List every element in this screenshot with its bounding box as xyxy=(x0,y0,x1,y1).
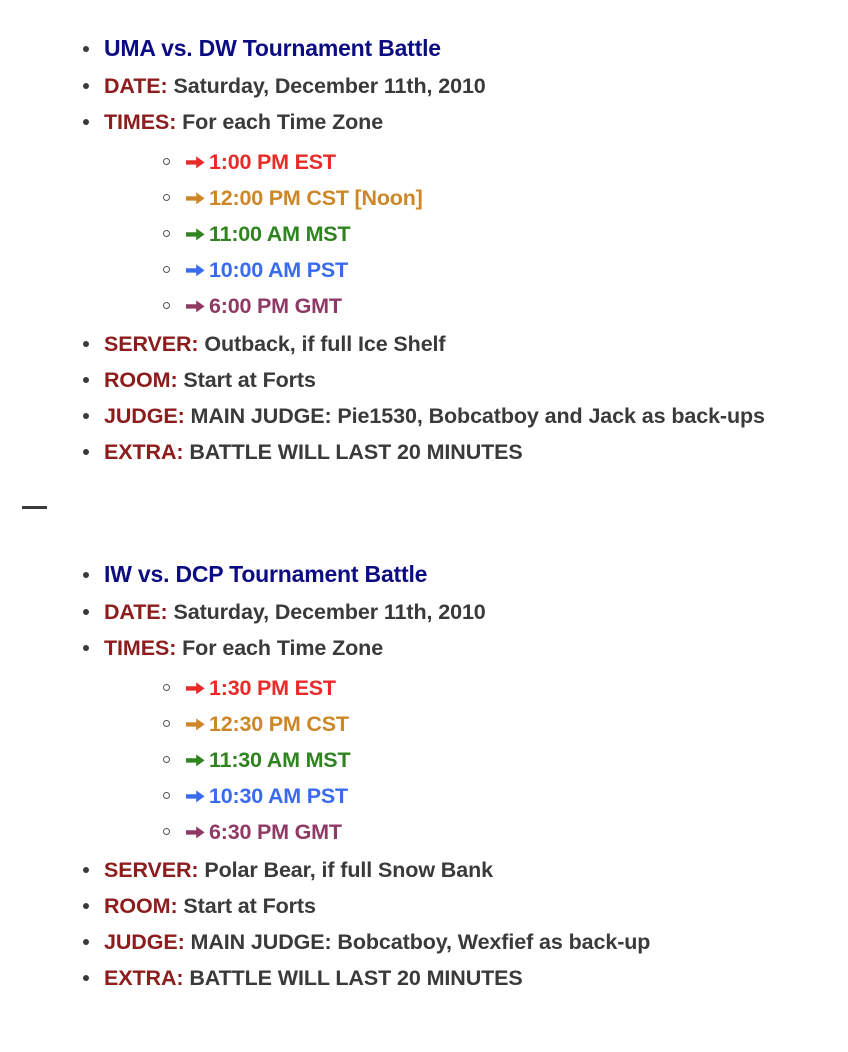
detail-value-room-2: Start at Forts xyxy=(183,894,315,918)
detail-row-judge-2: JUDGE: MAIN JUDGE: Bobcatboy, Wexfief as… xyxy=(0,924,848,960)
circle-bullet-icon xyxy=(163,230,170,237)
detail-label-times-1: TIMES: xyxy=(104,110,176,134)
circle-bullet-icon xyxy=(163,302,170,309)
detail-label-date-2: DATE: xyxy=(104,600,168,624)
right-arrow-icon xyxy=(186,155,205,170)
time-zone-label-cst-2: 12:30 PM CST xyxy=(209,712,349,736)
detail-row-judge-1: JUDGE: MAIN JUDGE: Pie1530, Bobcatboy an… xyxy=(0,398,848,434)
detail-row-times-2: TIMES: For each Time Zone xyxy=(0,630,848,666)
circle-bullet-icon xyxy=(163,194,170,201)
time-zone-item-pst-1: 10:00 AM PST xyxy=(0,252,848,288)
right-arrow-icon xyxy=(186,299,205,314)
time-zone-label-gmt-1: 6:00 PM GMT xyxy=(209,294,342,318)
tournament-block-2: IW vs. DCP Tournament Battle DATE: Satur… xyxy=(0,548,848,996)
disc-bullet-icon xyxy=(83,83,89,89)
right-arrow-icon xyxy=(186,753,205,768)
detail-value-extra-1: BATTLE WILL LAST 20 MINUTES xyxy=(189,440,522,464)
time-zone-list-1: 1:00 PM EST 12:00 PM CST [Noon] 11:00 AM… xyxy=(0,144,848,324)
detail-value-date-1: Saturday, December 11th, 2010 xyxy=(173,74,485,98)
time-zone-item-mst-2: 11:30 AM MST xyxy=(0,742,848,778)
time-zone-sublist-wrapper-2: 1:30 PM EST 12:30 PM CST 11:30 AM MST 10… xyxy=(0,670,848,850)
circle-bullet-icon xyxy=(163,684,170,691)
detail-label-server-2: SERVER: xyxy=(104,858,199,882)
disc-bullet-icon xyxy=(83,119,89,125)
time-zone-label-est-2: 1:30 PM EST xyxy=(209,676,336,700)
detail-row-server-1: SERVER: Outback, if full Ice Shelf xyxy=(0,326,848,362)
circle-bullet-icon xyxy=(163,266,170,273)
detail-value-extra-2: BATTLE WILL LAST 20 MINUTES xyxy=(189,966,522,990)
detail-label-room-2: ROOM: xyxy=(104,894,178,918)
time-zone-item-cst-1: 12:00 PM CST [Noon] xyxy=(0,180,848,216)
detail-label-times-2: TIMES: xyxy=(104,636,176,660)
time-zone-item-gmt-1: 6:00 PM GMT xyxy=(0,288,848,324)
right-arrow-icon xyxy=(186,227,205,242)
disc-bullet-icon xyxy=(83,341,89,347)
detail-value-server-2: Polar Bear, if full Snow Bank xyxy=(204,858,493,882)
circle-bullet-icon xyxy=(163,720,170,727)
detail-label-extra-1: EXTRA: xyxy=(104,440,183,464)
announcement-page: UMA vs. DW Tournament Battle DATE: Satur… xyxy=(0,0,848,1052)
horizontal-rule xyxy=(22,506,47,509)
detail-value-room-1: Start at Forts xyxy=(183,368,315,392)
detail-row-extra-2: EXTRA: BATTLE WILL LAST 20 MINUTES xyxy=(0,960,848,996)
detail-value-judge-2: MAIN JUDGE: Bobcatboy, Wexfief as back-u… xyxy=(191,930,651,954)
detail-row-room-2: ROOM: Start at Forts xyxy=(0,888,848,924)
time-zone-label-gmt-2: 6:30 PM GMT xyxy=(209,820,342,844)
detail-label-extra-2: EXTRA: xyxy=(104,966,183,990)
section-divider xyxy=(0,470,848,548)
right-arrow-icon xyxy=(186,789,205,804)
time-zone-item-est-2: 1:30 PM EST xyxy=(0,670,848,706)
battle-title-item-1: UMA vs. DW Tournament Battle xyxy=(0,30,848,68)
detail-row-times-1: TIMES: For each Time Zone xyxy=(0,104,848,140)
time-zone-item-gmt-2: 6:30 PM GMT xyxy=(0,814,848,850)
detail-label-date-1: DATE: xyxy=(104,74,168,98)
detail-label-room-1: ROOM: xyxy=(104,368,178,392)
battle-details-list-1: UMA vs. DW Tournament Battle DATE: Satur… xyxy=(0,30,848,470)
detail-value-date-2: Saturday, December 11th, 2010 xyxy=(173,600,485,624)
disc-bullet-icon xyxy=(83,46,89,52)
right-arrow-icon xyxy=(186,191,205,206)
time-zone-label-cst-1: 12:00 PM CST [Noon] xyxy=(209,186,423,210)
disc-bullet-icon xyxy=(83,903,89,909)
detail-row-extra-1: EXTRA: BATTLE WILL LAST 20 MINUTES xyxy=(0,434,848,470)
detail-label-judge-2: JUDGE: xyxy=(104,930,185,954)
detail-value-times-1: For each Time Zone xyxy=(182,110,383,134)
disc-bullet-icon xyxy=(83,867,89,873)
disc-bullet-icon xyxy=(83,572,89,578)
circle-bullet-icon xyxy=(163,828,170,835)
time-zone-label-est-1: 1:00 PM EST xyxy=(209,150,336,174)
battle-details-list-2: IW vs. DCP Tournament Battle DATE: Satur… xyxy=(0,556,848,996)
time-zone-sublist-wrapper-1: 1:00 PM EST 12:00 PM CST [Noon] 11:00 AM… xyxy=(0,144,848,324)
detail-row-server-2: SERVER: Polar Bear, if full Snow Bank xyxy=(0,852,848,888)
time-zone-item-mst-1: 11:00 AM MST xyxy=(0,216,848,252)
circle-bullet-icon xyxy=(163,158,170,165)
battle-title-2: IW vs. DCP Tournament Battle xyxy=(104,561,427,587)
time-zone-item-pst-2: 10:30 AM PST xyxy=(0,778,848,814)
battle-title-1: UMA vs. DW Tournament Battle xyxy=(104,35,441,61)
time-zone-item-cst-2: 12:30 PM CST xyxy=(0,706,848,742)
circle-bullet-icon xyxy=(163,792,170,799)
right-arrow-icon xyxy=(186,681,205,696)
detail-label-server-1: SERVER: xyxy=(104,332,199,356)
disc-bullet-icon xyxy=(83,377,89,383)
disc-bullet-icon xyxy=(83,939,89,945)
battle-title-item-2: IW vs. DCP Tournament Battle xyxy=(0,556,848,594)
time-zone-label-mst-1: 11:00 AM MST xyxy=(209,222,350,246)
detail-label-judge-1: JUDGE: xyxy=(104,404,185,428)
time-zone-label-mst-2: 11:30 AM MST xyxy=(209,748,350,772)
disc-bullet-icon xyxy=(83,975,89,981)
circle-bullet-icon xyxy=(163,756,170,763)
disc-bullet-icon xyxy=(83,645,89,651)
detail-row-room-1: ROOM: Start at Forts xyxy=(0,362,848,398)
detail-value-judge-1: MAIN JUDGE: Pie1530, Bobcatboy and Jack … xyxy=(191,404,765,428)
right-arrow-icon xyxy=(186,825,205,840)
detail-row-date-1: DATE: Saturday, December 11th, 2010 xyxy=(0,68,848,104)
time-zone-label-pst-1: 10:00 AM PST xyxy=(209,258,348,282)
tournament-block-1: UMA vs. DW Tournament Battle DATE: Satur… xyxy=(0,0,848,470)
right-arrow-icon xyxy=(186,263,205,278)
disc-bullet-icon xyxy=(83,609,89,615)
disc-bullet-icon xyxy=(83,413,89,419)
detail-value-server-1: Outback, if full Ice Shelf xyxy=(204,332,445,356)
detail-row-date-2: DATE: Saturday, December 11th, 2010 xyxy=(0,594,848,630)
disc-bullet-icon xyxy=(83,449,89,455)
right-arrow-icon xyxy=(186,717,205,732)
time-zone-label-pst-2: 10:30 AM PST xyxy=(209,784,348,808)
detail-value-times-2: For each Time Zone xyxy=(182,636,383,660)
time-zone-item-est-1: 1:00 PM EST xyxy=(0,144,848,180)
time-zone-list-2: 1:30 PM EST 12:30 PM CST 11:30 AM MST 10… xyxy=(0,670,848,850)
